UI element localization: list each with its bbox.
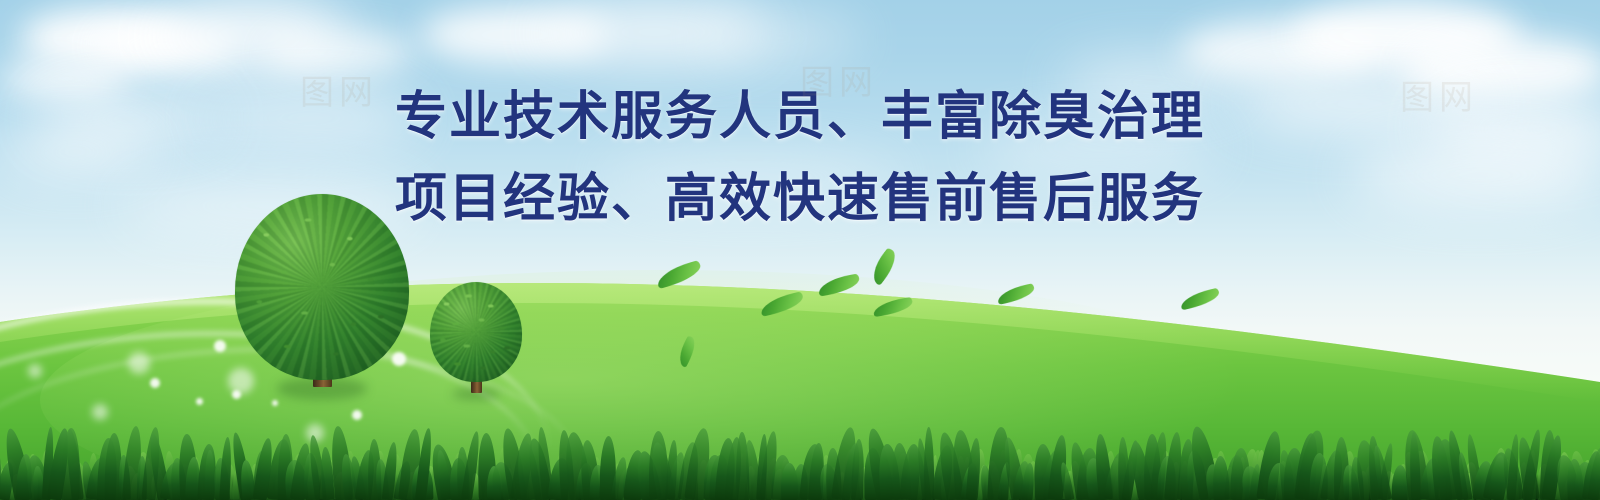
small-tree-foliage-edge (427, 279, 525, 385)
watermark-1: 图网 (1400, 70, 1478, 119)
grass-blade (205, 450, 215, 500)
promotional-banner: 专业技术服务人员、丰富除臭治理 项目经验、高效快速售前售后服务 图网图网图网 (0, 0, 1600, 500)
grass-blade-border (0, 418, 1600, 500)
watermark-2: 图网 (800, 55, 878, 104)
watermark-0: 图网 (300, 65, 378, 114)
small-tree-canopy (430, 282, 522, 382)
